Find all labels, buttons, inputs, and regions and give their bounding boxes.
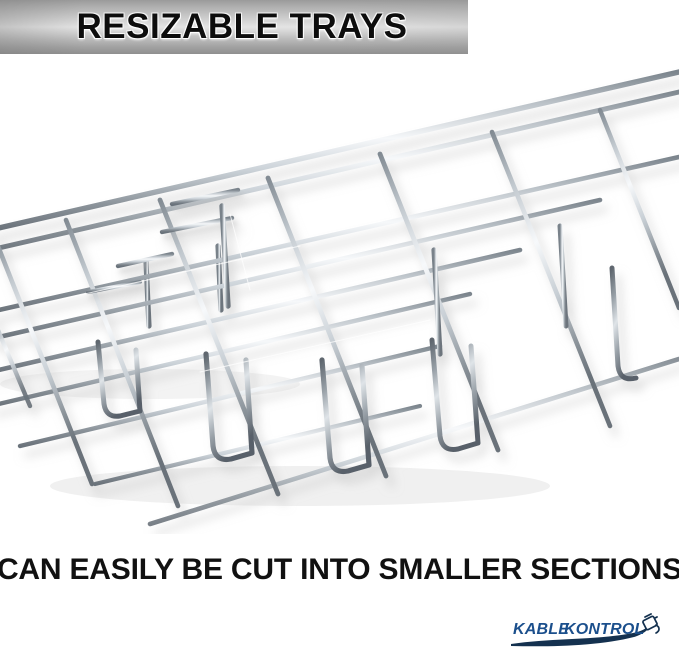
product-marketing-image: RESIZABLE TRAYS bbox=[0, 0, 679, 653]
logo-word-kontrol: KONTROL bbox=[564, 621, 645, 638]
logo-word-kable: KABLE bbox=[513, 621, 570, 638]
far-side-rails bbox=[0, 72, 679, 250]
wire-mesh-cable-tray-illustration bbox=[0, 54, 679, 534]
right-end-corner bbox=[612, 268, 636, 379]
brand-logo: KABLE KONTROL bbox=[507, 613, 667, 649]
tagline-text: CAN EASILY BE CUT INTO SMALLER SECTIONS bbox=[0, 548, 679, 592]
product-photo bbox=[0, 54, 679, 534]
page-title: RESIZABLE TRAYS bbox=[0, 0, 468, 54]
